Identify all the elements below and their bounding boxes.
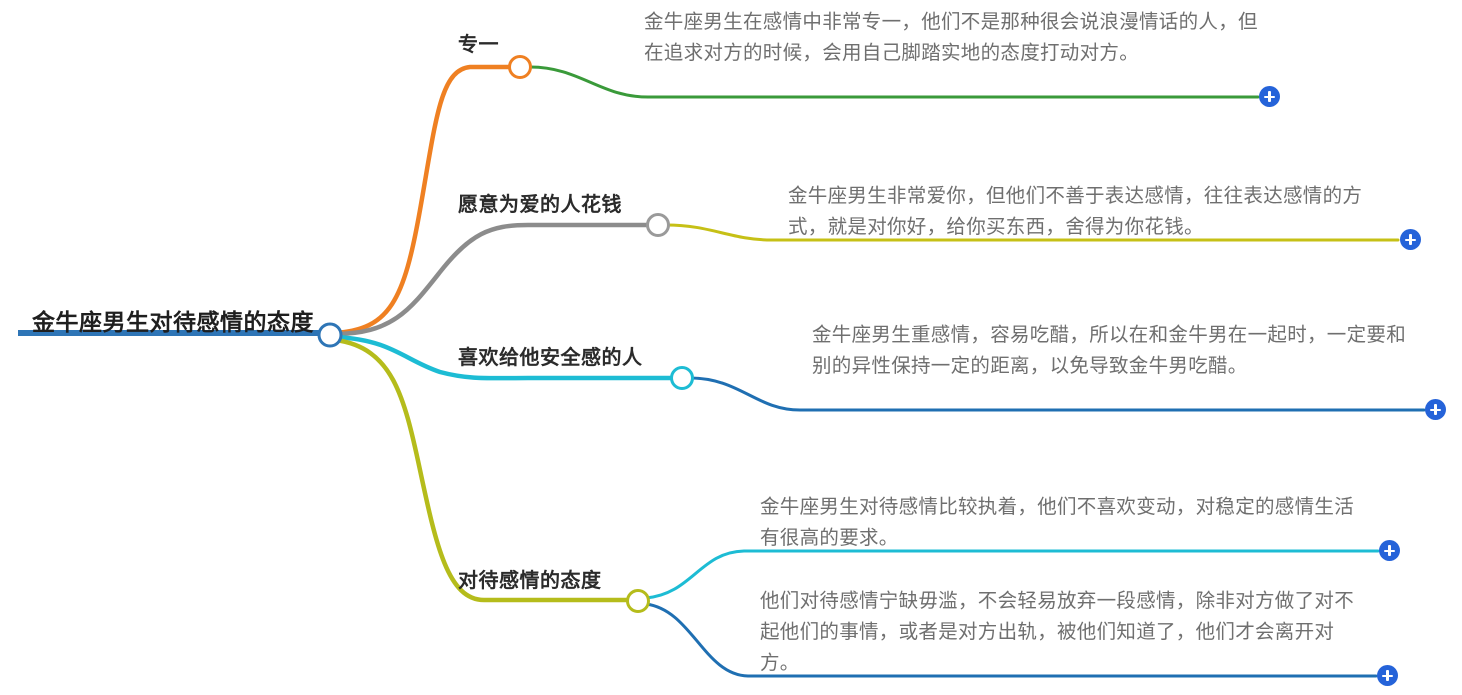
- mindmap-canvas: 金牛座男生对待感情的态度 专一 愿意为爱的人花钱 喜欢给他安全感的人 对待感情的…: [0, 0, 1462, 695]
- expand-button-1-1[interactable]: [1259, 86, 1280, 107]
- leaf-line-1-1: [530, 67, 1258, 97]
- leaf-text-4-2[interactable]: 他们对待感情宁缺毋滥，不会轻易放弃一段感情，除非对方做了对不起他们的事情，或者是…: [760, 586, 1370, 679]
- branch-label-3[interactable]: 喜欢给他安全感的人: [458, 341, 643, 370]
- leaf-text-1-1[interactable]: 金牛座男生在感情中非常专一，他们不是那种很会说浪漫情话的人，但在追求对方的时候，…: [644, 7, 1259, 69]
- leaf-text-2-1[interactable]: 金牛座男生非常爱你，但他们不善于表达感情，往往表达感情的方式，就是对你好，给你买…: [788, 181, 1400, 243]
- branch-node-2[interactable]: [648, 215, 669, 236]
- leaf-line-3-1: [690, 378, 1424, 410]
- expand-button-3-1[interactable]: [1425, 399, 1446, 420]
- expand-button-4-2[interactable]: [1377, 665, 1398, 686]
- branch-line-4: [336, 340, 628, 600]
- page-title[interactable]: 金牛座男生对待感情的态度: [32, 303, 314, 337]
- branch-node-1[interactable]: [510, 57, 531, 78]
- branch-label-4[interactable]: 对待感情的态度: [458, 564, 602, 593]
- root-connector-node[interactable]: [319, 324, 341, 346]
- branch-node-3[interactable]: [672, 368, 693, 389]
- branch-label-1[interactable]: 专一: [458, 28, 499, 57]
- branch-label-2[interactable]: 愿意为爱的人花钱: [458, 188, 622, 217]
- leaf-text-3-1[interactable]: 金牛座男生重感情，容易吃醋，所以在和金牛男在一起时，一定要和别的异性保持一定的距…: [812, 320, 1414, 382]
- leaf-text-4-1[interactable]: 金牛座男生对待感情比较执着，他们不喜欢变动，对稳定的感情生活有很高的要求。: [760, 492, 1360, 554]
- expand-button-2-1[interactable]: [1400, 229, 1421, 250]
- branch-line-2: [334, 225, 648, 334]
- branch-node-4[interactable]: [628, 591, 649, 612]
- expand-button-4-1[interactable]: [1379, 540, 1400, 561]
